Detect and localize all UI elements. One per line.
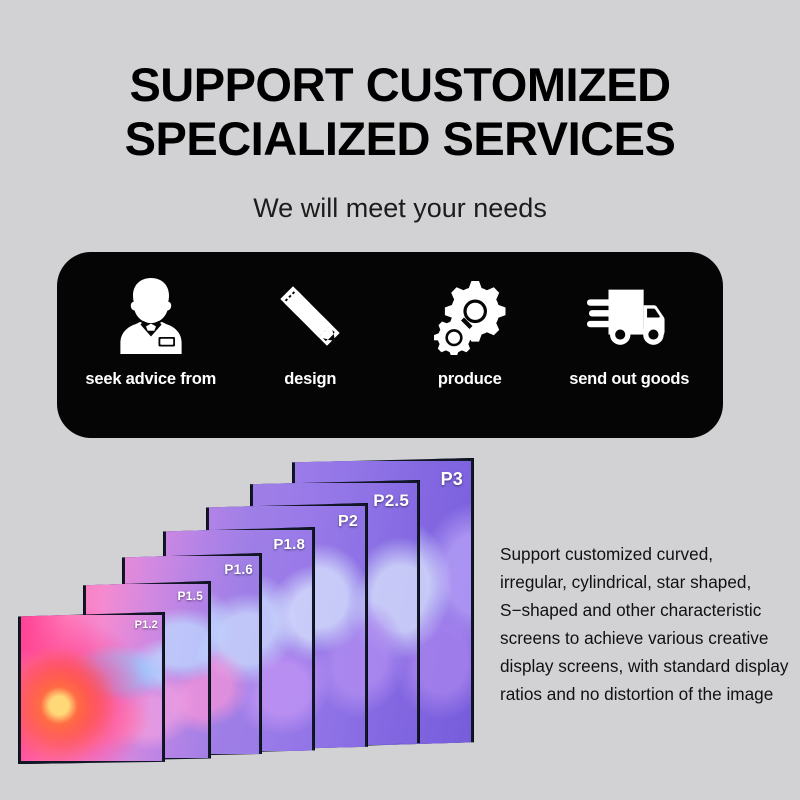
led-panel-label: P1.5 xyxy=(178,589,204,603)
gears-icon xyxy=(428,274,512,358)
delivery-truck-icon xyxy=(587,274,671,358)
led-panel-label: P2.5 xyxy=(373,491,409,511)
description-line-4: screens to achieve various creative xyxy=(500,624,790,652)
led-panel-label: P3 xyxy=(441,469,463,490)
process-step-send-out-goods[interactable]: send out goods xyxy=(550,274,710,389)
page-title-line-1: SUPPORT CUSTOMIZED xyxy=(0,58,800,112)
led-panel-stack: P3 P2.5 P2 P1.8 P1.6 xyxy=(0,448,510,788)
description-line-1: Support customized curved, xyxy=(500,540,790,568)
promo-banner: SUPPORT CUSTOMIZED SPECIALIZED SERVICES … xyxy=(0,0,800,800)
led-panel-label: P2 xyxy=(338,513,358,531)
pencil-ruler-icon xyxy=(268,274,352,358)
description-line-5: display screens, with standard display xyxy=(500,652,790,680)
led-panel-label: P1.2 xyxy=(135,619,158,631)
process-step-label: produce xyxy=(438,370,502,389)
led-panel-label: P1.8 xyxy=(273,536,305,553)
process-step-seek-advice[interactable]: seek advice from xyxy=(71,274,231,389)
description-line-3: S−shaped and other characteristic xyxy=(500,596,790,624)
page-title-line-2: SPECIALIZED SERVICES xyxy=(0,112,800,166)
consultant-person-icon xyxy=(109,274,193,358)
page-subtitle: We will meet your needs xyxy=(0,192,800,224)
process-step-design[interactable]: design xyxy=(231,274,391,389)
process-step-label: send out goods xyxy=(569,370,689,389)
description-text: Support customized curved, irregular, cy… xyxy=(500,540,790,708)
led-panel-p12[interactable]: P1.2 xyxy=(18,612,165,764)
led-panel-label: P1.6 xyxy=(224,562,253,577)
process-steps: seek advice from xyxy=(57,252,723,438)
process-step-label: design xyxy=(284,370,336,389)
description-line-6: ratios and no distortion of the image xyxy=(500,680,790,708)
process-step-produce[interactable]: produce xyxy=(390,274,550,389)
description-line-2: irregular, cylindrical, star shaped, xyxy=(500,568,790,596)
page-title: SUPPORT CUSTOMIZED SPECIALIZED SERVICES xyxy=(0,58,800,166)
led-panel-screen xyxy=(21,615,162,761)
process-card: seek advice from xyxy=(57,252,723,438)
process-step-label: seek advice from xyxy=(85,370,216,389)
